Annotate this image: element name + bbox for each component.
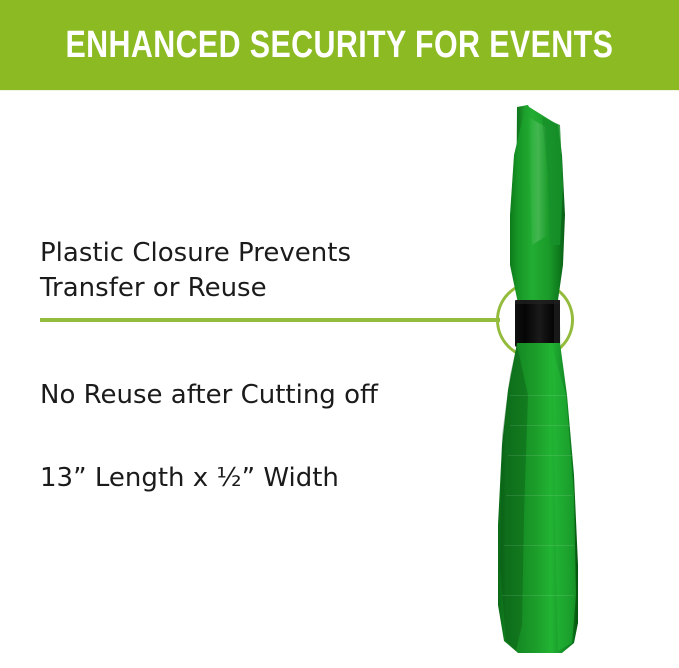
banner-divider	[0, 88, 679, 91]
feature-dimensions: 13” Length x ½” Width	[40, 461, 339, 495]
callout-line-2: Transfer or Reuse	[40, 271, 460, 306]
page-title: ENHANCED SECURITY FOR EVENTS	[66, 26, 614, 64]
product-photo-wristband	[470, 95, 610, 668]
callout-text-block: Plastic Closure Prevents Transfer or Reu…	[40, 236, 460, 306]
callout-line-1: Plastic Closure Prevents	[40, 236, 460, 271]
feature-no-reuse: No Reuse after Cutting off	[40, 378, 378, 412]
header-banner: ENHANCED SECURITY FOR EVENTS	[0, 0, 679, 90]
clasp-group	[515, 300, 560, 347]
callout-leader-line	[40, 318, 500, 322]
